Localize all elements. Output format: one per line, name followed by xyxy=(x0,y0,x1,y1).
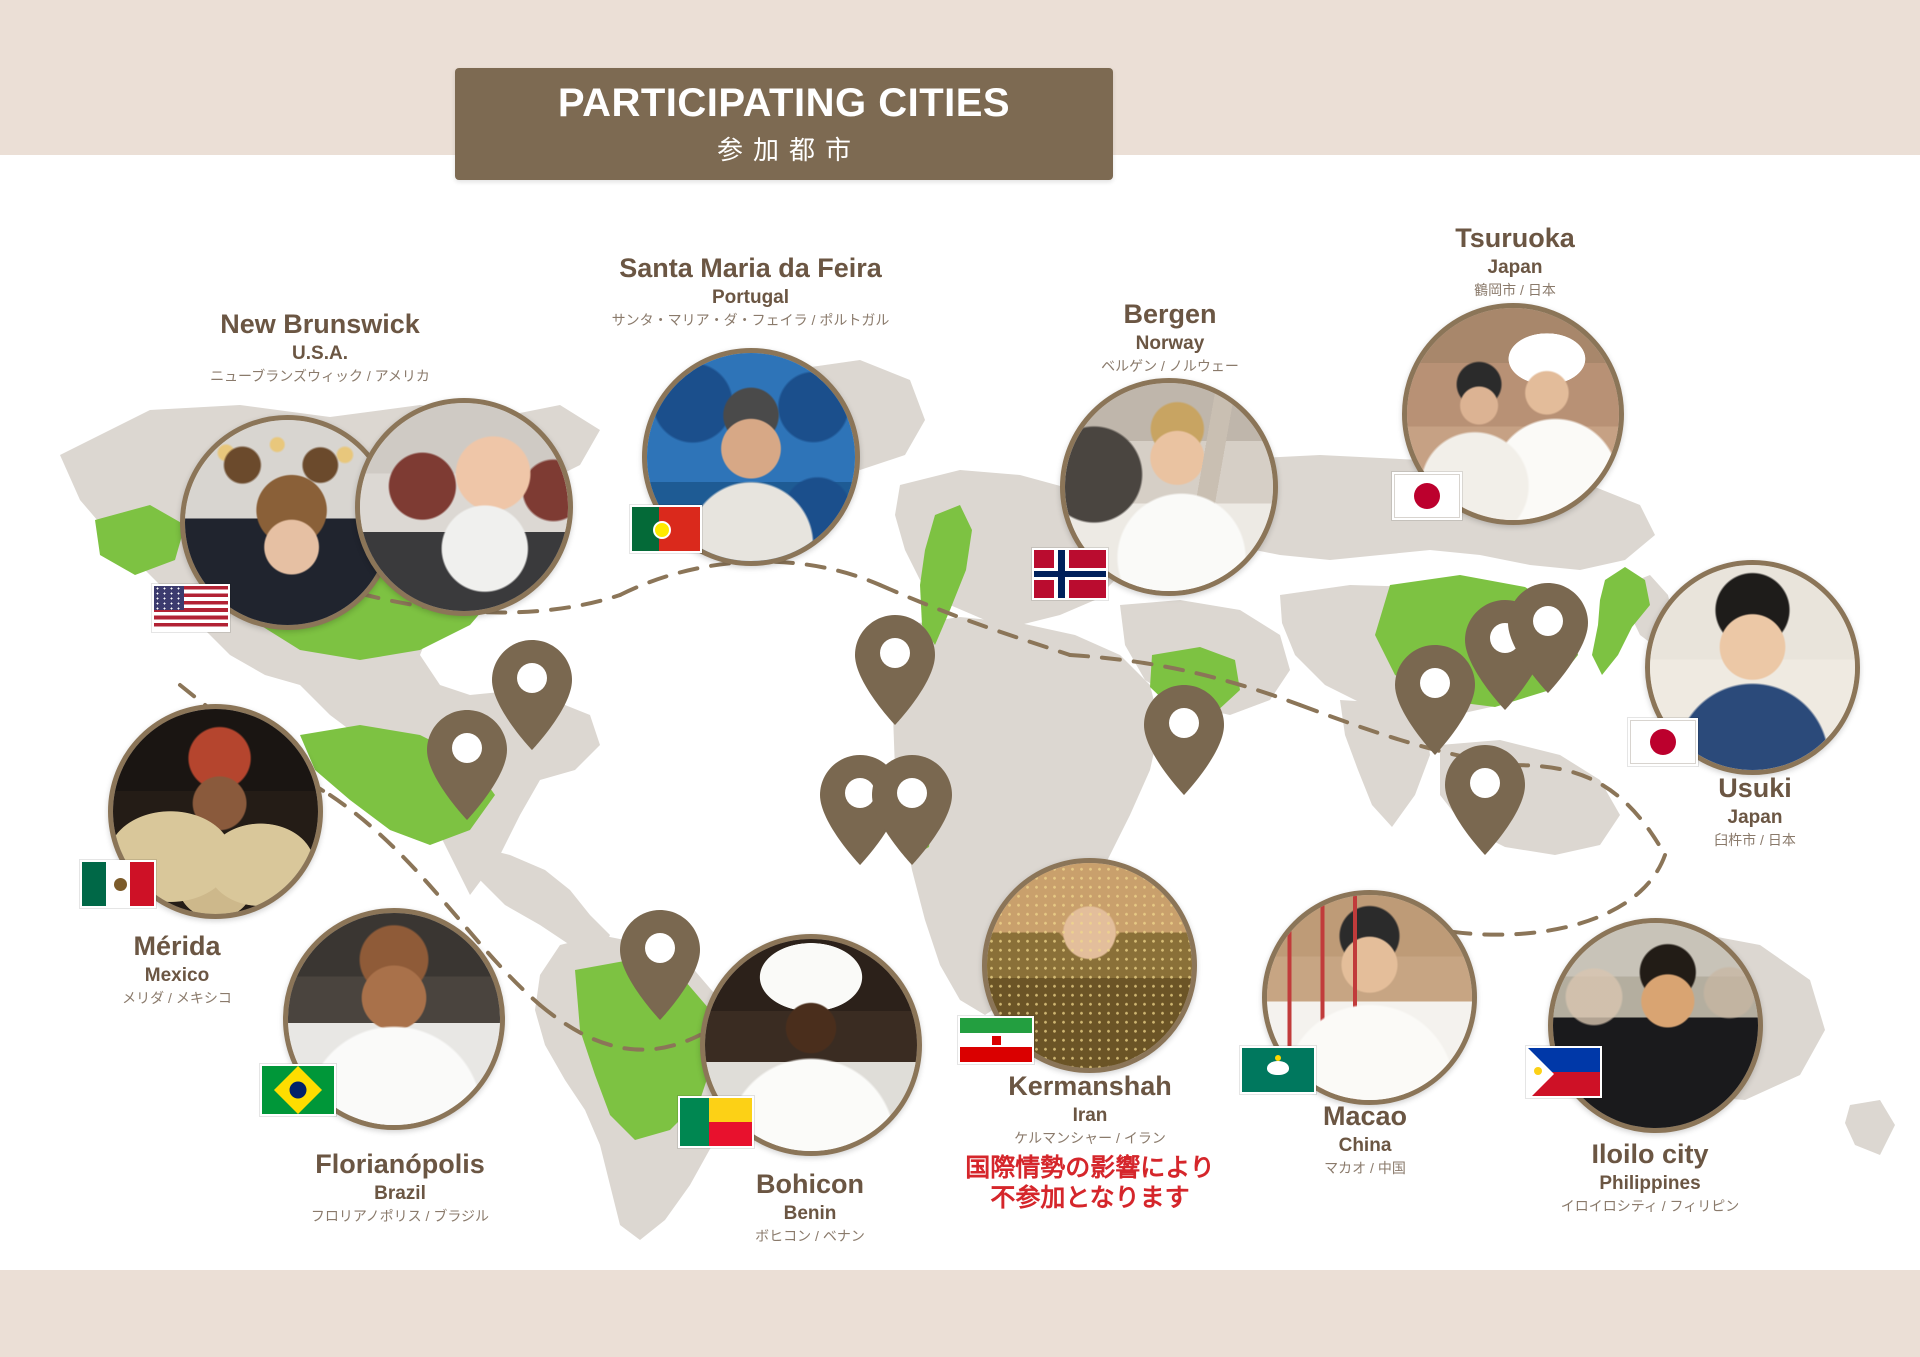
city-name-japanese: 臼杵市 / 日本 xyxy=(1640,832,1870,850)
city-name: Tsuruoka xyxy=(1395,222,1635,256)
page-title-banner: PARTICIPATING CITIES 参加都市 xyxy=(455,68,1113,180)
city-name-japanese: マカオ / 中国 xyxy=(1240,1160,1490,1178)
city-new-brunswick: New Brunswick U.S.A. ニューブランズウィック / アメリカ xyxy=(170,308,470,385)
city-florianopolis: Florianópolis Brazil フロリアノポリス / ブラジル xyxy=(250,1148,550,1225)
city-name-japanese: 鶴岡市 / 日本 xyxy=(1395,282,1635,300)
non-participation-notice: 国際情勢の影響により 不参加となります xyxy=(930,1153,1250,1213)
japan-flag xyxy=(1392,472,1462,520)
norway-flag xyxy=(1032,548,1108,600)
city-name-japanese: ニューブランズウィック / アメリカ xyxy=(170,368,470,386)
city-name: Kermanshah xyxy=(930,1070,1250,1104)
city-name-japanese: サンタ・マリア・ダ・フェイラ / ポルトガル xyxy=(578,312,923,330)
city-name: Usuki xyxy=(1640,772,1870,806)
city-country: Philippines xyxy=(1520,1172,1780,1196)
notice-line-1: 国際情勢の影響により xyxy=(930,1153,1250,1183)
page-title: PARTICIPATING CITIES xyxy=(558,82,1010,124)
city-macao: Macao China マカオ / 中国 xyxy=(1240,1100,1490,1177)
city-country: China xyxy=(1240,1134,1490,1158)
city-name: Bohicon xyxy=(685,1168,935,1202)
city-name: Florianópolis xyxy=(250,1148,550,1182)
bottom-decorative-band xyxy=(0,1270,1920,1357)
city-country: Benin xyxy=(685,1202,935,1226)
city-country: U.S.A. xyxy=(170,342,470,366)
city-name: Iloilo city xyxy=(1520,1138,1780,1172)
city-name: Macao xyxy=(1240,1100,1490,1134)
city-name-japanese: フロリアノポリス / ブラジル xyxy=(250,1208,550,1226)
us-flag xyxy=(152,584,230,632)
city-kermanshah: Kermanshah Iran ケルマンシャー / イラン 国際情勢の影響により… xyxy=(930,1070,1250,1213)
iran-flag xyxy=(958,1016,1034,1064)
photo-iloilo-city xyxy=(1548,918,1763,1133)
city-name-japanese: メリダ / メキシコ xyxy=(62,990,292,1008)
city-name: Mérida xyxy=(62,930,292,964)
city-name-japanese: ボヒコン / ベナン xyxy=(685,1228,935,1246)
japan-flag xyxy=(1628,718,1698,766)
city-merida: Mérida Mexico メリダ / メキシコ xyxy=(62,930,292,1007)
city-tsuruoka: Tsuruoka Japan 鶴岡市 / 日本 xyxy=(1395,222,1635,299)
city-name: Bergen xyxy=(1035,298,1305,332)
philippines-flag xyxy=(1526,1046,1602,1098)
photo-new-brunswick-2 xyxy=(355,398,573,616)
city-country: Norway xyxy=(1035,332,1305,356)
city-name-japanese: イロイロシティ / フィリピン xyxy=(1520,1198,1780,1216)
city-country: Japan xyxy=(1395,256,1635,280)
macao-flag xyxy=(1240,1046,1316,1094)
city-name: New Brunswick xyxy=(170,308,470,342)
city-bergen: Bergen Norway ベルゲン / ノルウェー xyxy=(1035,298,1305,375)
page-title-japanese: 参加都市 xyxy=(707,130,861,167)
benin-flag xyxy=(678,1096,754,1148)
city-usuki: Usuki Japan 臼杵市 / 日本 xyxy=(1640,772,1870,849)
brazil-flag xyxy=(260,1064,336,1116)
city-iloilo-city: Iloilo city Philippines イロイロシティ / フィリピン xyxy=(1520,1138,1780,1215)
map-pin xyxy=(1144,685,1224,795)
portugal-flag xyxy=(630,505,702,553)
city-name-japanese: ケルマンシャー / イラン xyxy=(930,1130,1250,1148)
city-bohicon: Bohicon Benin ボヒコン / ベナン xyxy=(685,1168,935,1245)
city-country: Mexico xyxy=(62,964,292,988)
city-santa-maria-da-feira: Santa Maria da Feira Portugal サンタ・マリア・ダ・… xyxy=(578,252,923,329)
city-country: Brazil xyxy=(250,1182,550,1206)
city-country: Japan xyxy=(1640,806,1870,830)
city-name: Santa Maria da Feira xyxy=(578,252,923,286)
city-name-japanese: ベルゲン / ノルウェー xyxy=(1035,358,1305,376)
mexico-flag xyxy=(80,860,156,908)
city-country: Portugal xyxy=(578,286,923,310)
city-country: Iran xyxy=(930,1104,1250,1128)
notice-line-2: 不参加となります xyxy=(930,1183,1250,1213)
